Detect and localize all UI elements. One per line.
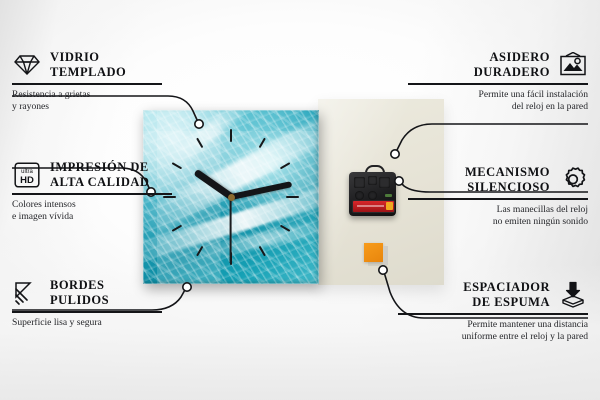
foam-spacer-icon bbox=[558, 280, 588, 310]
feature-rule bbox=[12, 311, 162, 313]
feature-mecanismo-silencioso[interactable]: MECANISMOSILENCIOSO Las manecillas del r… bbox=[408, 165, 588, 228]
feature-description: Las manecillas del reloj no emiten ningú… bbox=[408, 204, 588, 229]
feature-title: IMPRESIÓN DEALTA CALIDAD bbox=[50, 160, 149, 190]
gear-icon bbox=[558, 165, 588, 195]
feature-vidrio-templado[interactable]: VIDRIOTEMPLADO Resistencia a grietas y r… bbox=[12, 50, 162, 113]
picture-hanger-icon bbox=[558, 50, 588, 80]
feature-rule bbox=[398, 313, 588, 315]
ultra-hd-icon: ultra HD bbox=[12, 160, 42, 190]
feature-rule bbox=[408, 83, 588, 85]
feature-description: Colores intensos e imagen vívida bbox=[12, 199, 172, 224]
feature-rule bbox=[408, 198, 588, 200]
feature-title: BORDESPULIDOS bbox=[50, 278, 109, 308]
feature-title: VIDRIOTEMPLADO bbox=[50, 50, 126, 80]
feature-bordes-pulidos[interactable]: BORDESPULIDOS Superficie lisa y segura bbox=[12, 278, 162, 329]
polished-edges-icon bbox=[12, 278, 42, 308]
feature-asidero-duradero[interactable]: ASIDERODURADERO Permite una fácil instal… bbox=[408, 50, 588, 113]
feature-title: ESPACIADORDE ESPUMA bbox=[463, 280, 550, 310]
feature-espaciador-de-espuma[interactable]: ESPACIADORDE ESPUMA Permite mantener una… bbox=[398, 280, 588, 343]
feature-title: MECANISMOSILENCIOSO bbox=[465, 165, 550, 195]
feature-description: Permite mantener una distancia uniforme … bbox=[398, 319, 588, 344]
feature-description: Resistencia a grietas y rayones bbox=[12, 89, 162, 114]
battery bbox=[352, 200, 395, 213]
infographic-canvas: VIDRIOTEMPLADO Resistencia a grietas y r… bbox=[0, 0, 600, 400]
diamond-icon bbox=[12, 50, 42, 80]
feature-rule bbox=[12, 193, 172, 195]
feature-description: Superficie lisa y segura bbox=[12, 317, 162, 329]
clock-movement-part bbox=[349, 172, 396, 216]
feature-rule bbox=[12, 83, 162, 85]
feature-description: Permite una fácil instalación del reloj … bbox=[408, 89, 588, 114]
feature-impresion-alta-calidad[interactable]: ultra HD IMPRESIÓN DEALTA CALIDAD Colore… bbox=[12, 160, 172, 223]
foam-spacer-part bbox=[364, 243, 383, 262]
svg-text:HD: HD bbox=[20, 175, 34, 186]
feature-title: ASIDERODURADERO bbox=[474, 50, 550, 80]
